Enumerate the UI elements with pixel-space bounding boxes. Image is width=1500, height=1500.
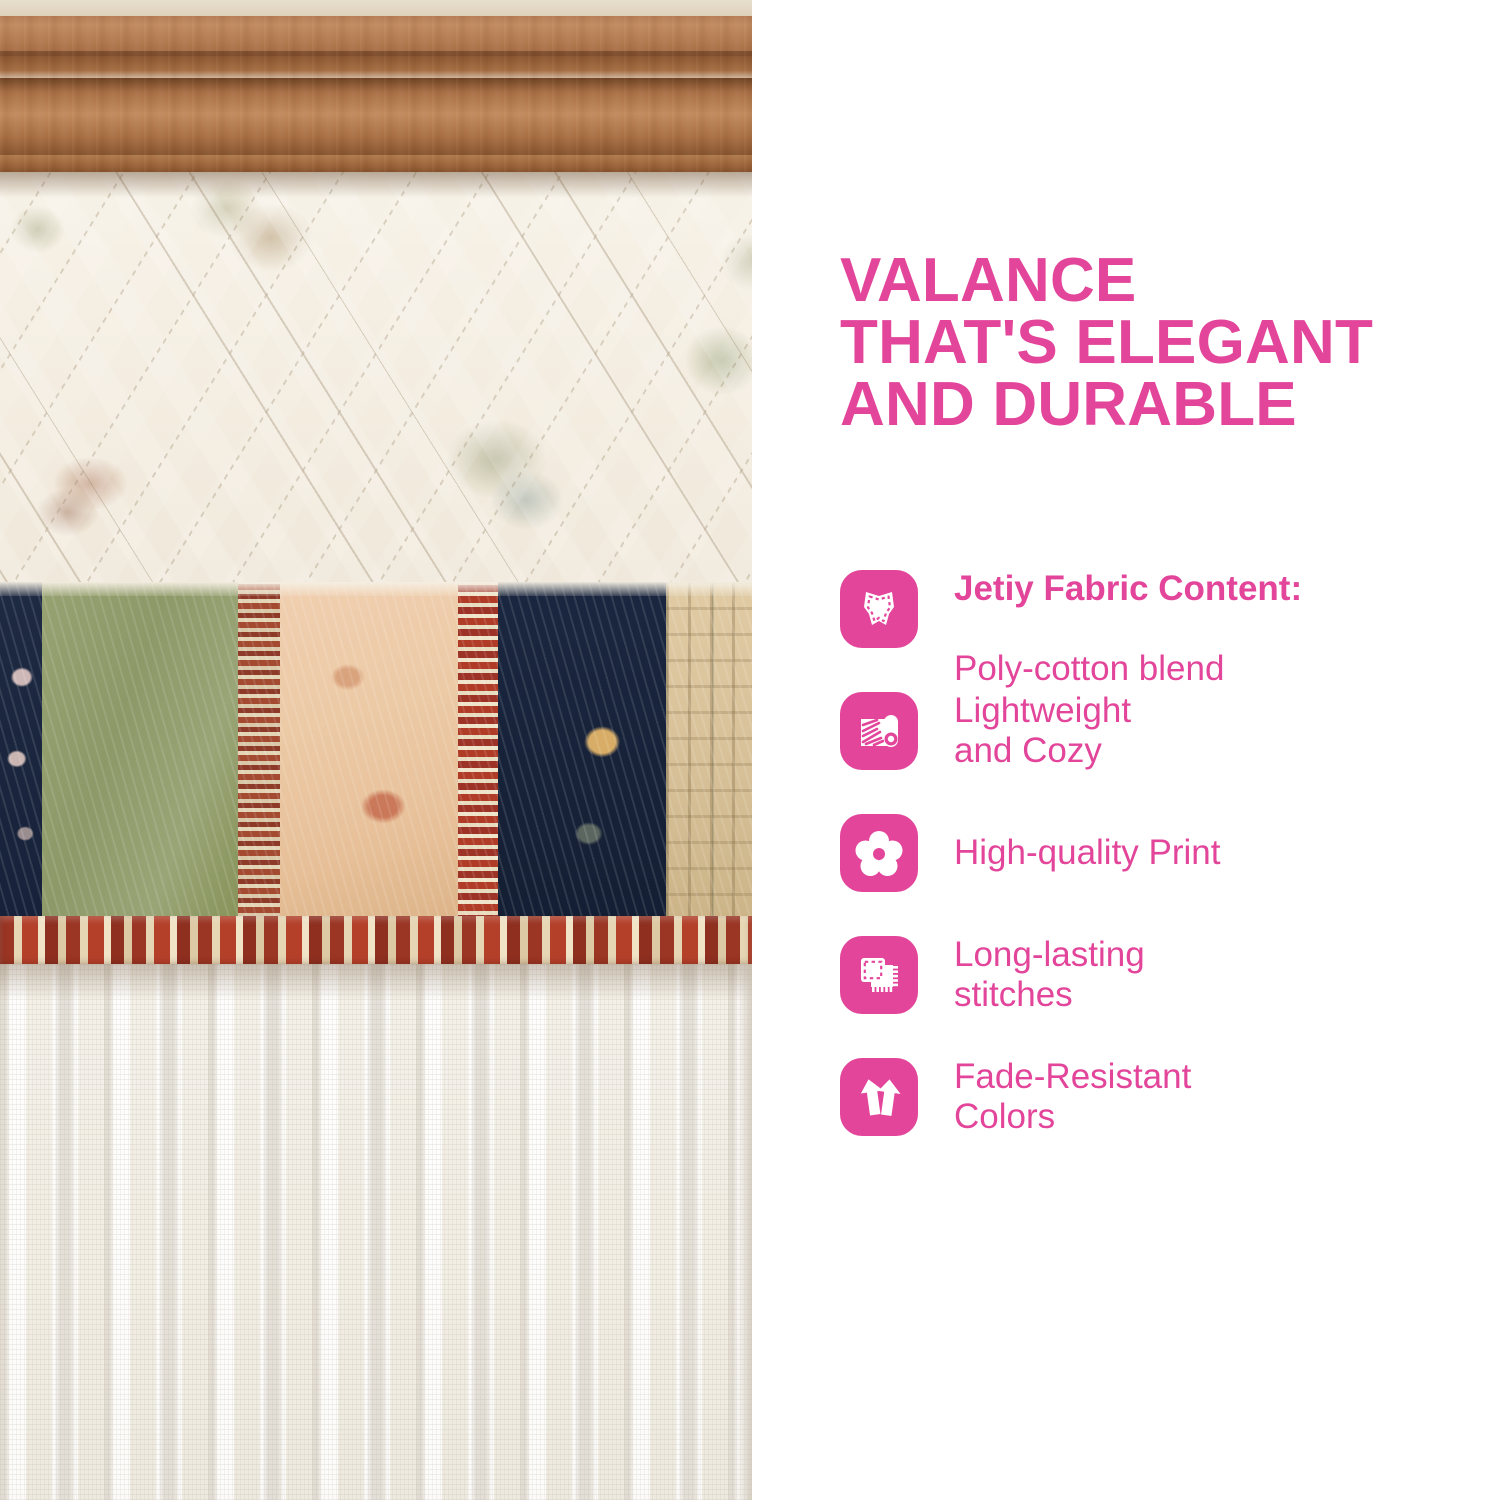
feature-list: Jetiy Fabric Content: Poly-cotton blend bbox=[840, 548, 1480, 1158]
page-title: VALANCE THAT'S ELEGANT AND DURABLE bbox=[840, 250, 1460, 436]
text-panel: VALANCE THAT'S ELEGANT AND DURABLE Jetiy… bbox=[752, 0, 1500, 1500]
feature-label-fade-resistant: Fade-Resistant Colors bbox=[954, 1057, 1191, 1137]
patchwork-band bbox=[0, 582, 752, 922]
quilt-top-shadow bbox=[0, 172, 752, 198]
feature-item-stitches: Long-lasting stitches bbox=[840, 914, 1480, 1036]
wood-grain-texture bbox=[0, 16, 752, 179]
tan-plaid-strip bbox=[666, 582, 752, 922]
navy-gold-flower-strip bbox=[498, 582, 666, 922]
feature-label-lightweight: Lightweight and Cozy bbox=[954, 691, 1131, 771]
red-cream-narrow-strip bbox=[238, 582, 280, 922]
feature-label-fabric-content: Jetiy Fabric Content: Poly-cotton blend bbox=[954, 529, 1302, 689]
sheer-curtain bbox=[0, 964, 752, 1500]
curtain-right-edge bbox=[736, 964, 752, 1500]
peach-floral-strip bbox=[280, 582, 458, 922]
diamond-stitching bbox=[0, 172, 752, 582]
linen-weave-texture bbox=[0, 964, 752, 1500]
quilted-panel bbox=[0, 172, 752, 582]
stitched-swatches-icon bbox=[840, 936, 918, 1014]
red-floral-narrow-strip bbox=[458, 582, 498, 922]
feature-item-fade-resistant: Fade-Resistant Colors bbox=[840, 1036, 1480, 1158]
product-photo bbox=[0, 0, 752, 1500]
binding-trim bbox=[0, 916, 752, 968]
fabric-roll-icon bbox=[840, 692, 918, 770]
feature-item-print-quality: High-quality Print bbox=[840, 792, 1480, 914]
curtain-top-shadow bbox=[0, 964, 752, 1000]
feature-value: Poly-cotton blend bbox=[954, 649, 1224, 688]
leather-hide-icon bbox=[840, 570, 918, 648]
sage-green-strip bbox=[42, 582, 238, 922]
wall-region bbox=[0, 0, 752, 16]
feature-label-stitches: Long-lasting stitches bbox=[954, 935, 1145, 1015]
gathered-top-edge bbox=[0, 582, 752, 596]
double-up-arrow-icon bbox=[840, 1058, 918, 1136]
flower-icon bbox=[840, 814, 918, 892]
infographic-page: VALANCE THAT'S ELEGANT AND DURABLE Jetiy… bbox=[0, 0, 1500, 1500]
feature-item-fabric-content: Jetiy Fabric Content: Poly-cotton blend bbox=[840, 548, 1480, 670]
feature-bold-label: Jetiy Fabric Content: bbox=[954, 569, 1302, 608]
navy-floral-strip bbox=[0, 582, 42, 922]
feature-label-print-quality: High-quality Print bbox=[954, 833, 1221, 873]
